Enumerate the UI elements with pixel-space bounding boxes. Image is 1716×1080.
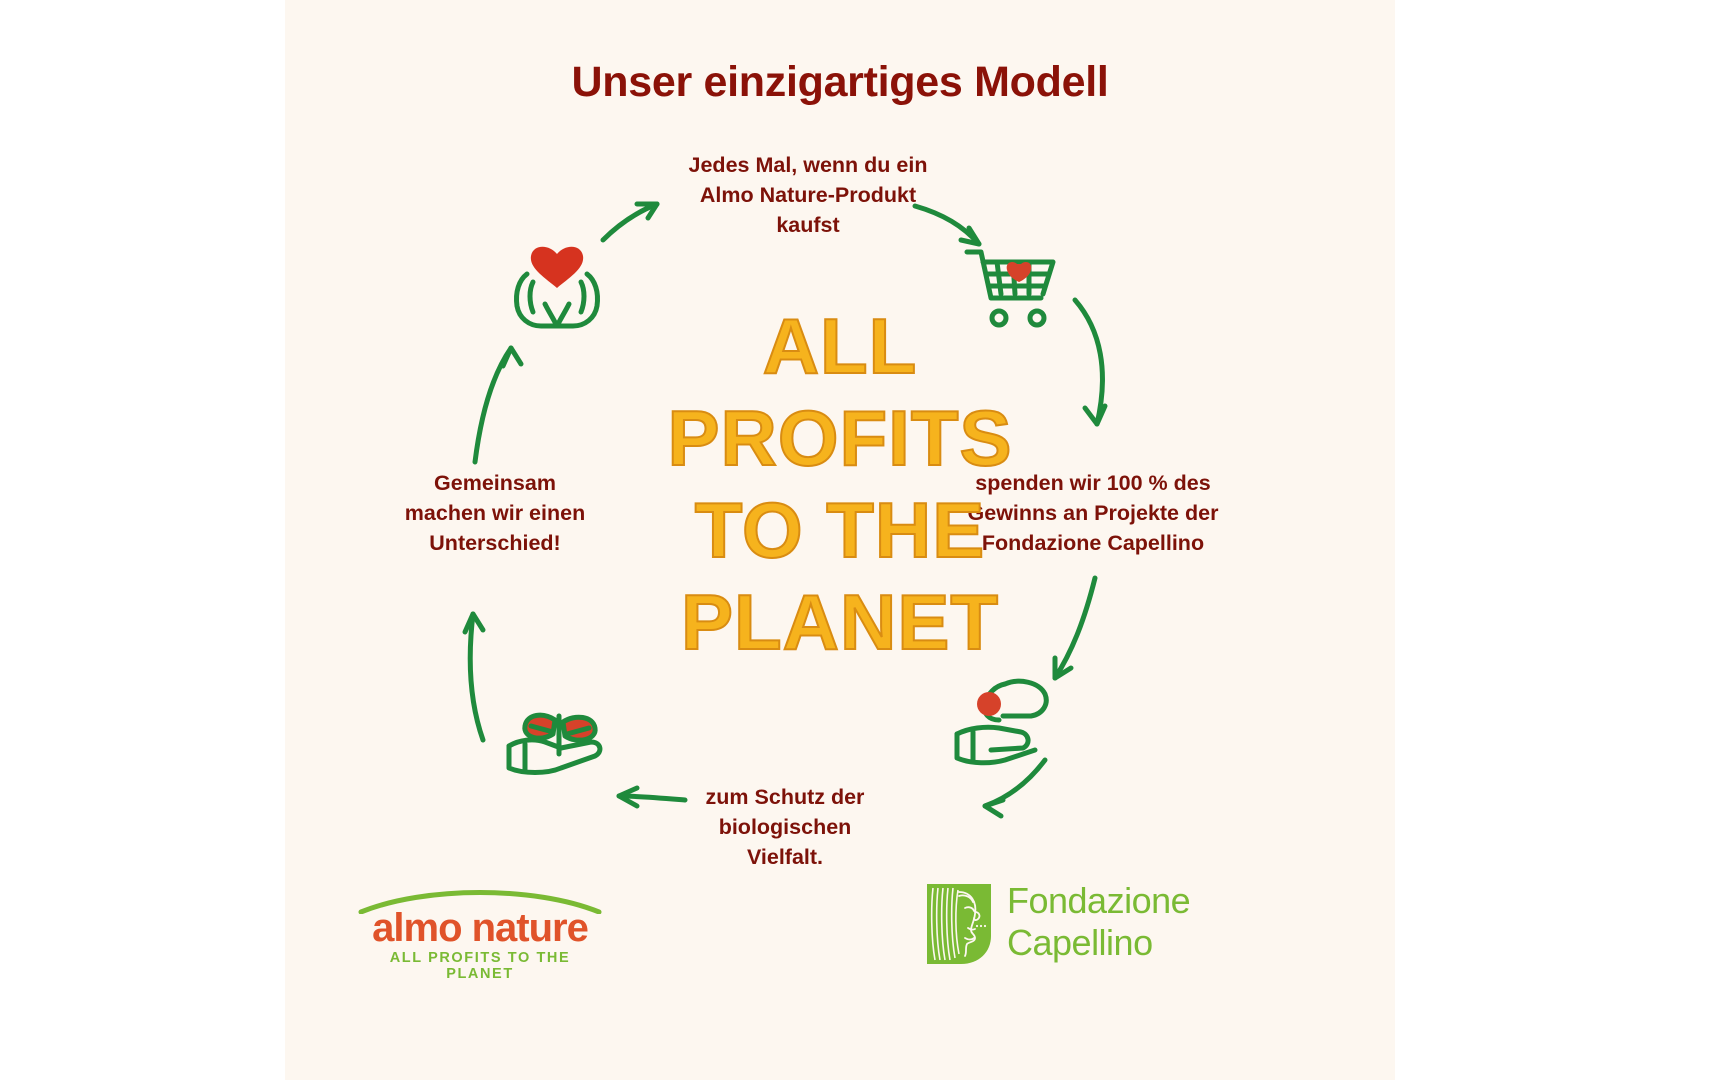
- fondazione-capellino-logo: Fondazione Capellino: [925, 878, 1225, 970]
- infographic-canvas: Unser einzigartiges Modell: [0, 0, 1716, 1080]
- fondazione-line-1: Fondazione: [1007, 880, 1190, 922]
- center-wordmark: ALL PROFITS TO THE PLANET: [285, 300, 1395, 668]
- woman-profile-shield-icon: [925, 882, 993, 966]
- page-title: Unser einzigartiges Modell: [285, 58, 1395, 107]
- almo-nature-tagline: ALL PROFITS TO THE PLANET: [355, 950, 605, 982]
- fondazione-line-2: Capellino: [1007, 922, 1190, 964]
- infographic-panel: Unser einzigartiges Modell: [285, 0, 1395, 1080]
- cycle-label-purchase: Jedes Mal, wenn du ein Almo Nature-Produ…: [603, 150, 1013, 240]
- almo-nature-wordmark: almo nature: [355, 906, 605, 950]
- hand-giving-coin-icon: [947, 672, 1055, 772]
- hand-with-sprout-icon: [503, 672, 615, 778]
- almo-nature-logo: almo nature ALL PROFITS TO THE PLANET: [355, 888, 605, 974]
- cycle-label-protect: zum Schutz der biologischen Vielfalt.: [655, 782, 915, 872]
- fondazione-capellino-wordmark: Fondazione Capellino: [1007, 880, 1190, 964]
